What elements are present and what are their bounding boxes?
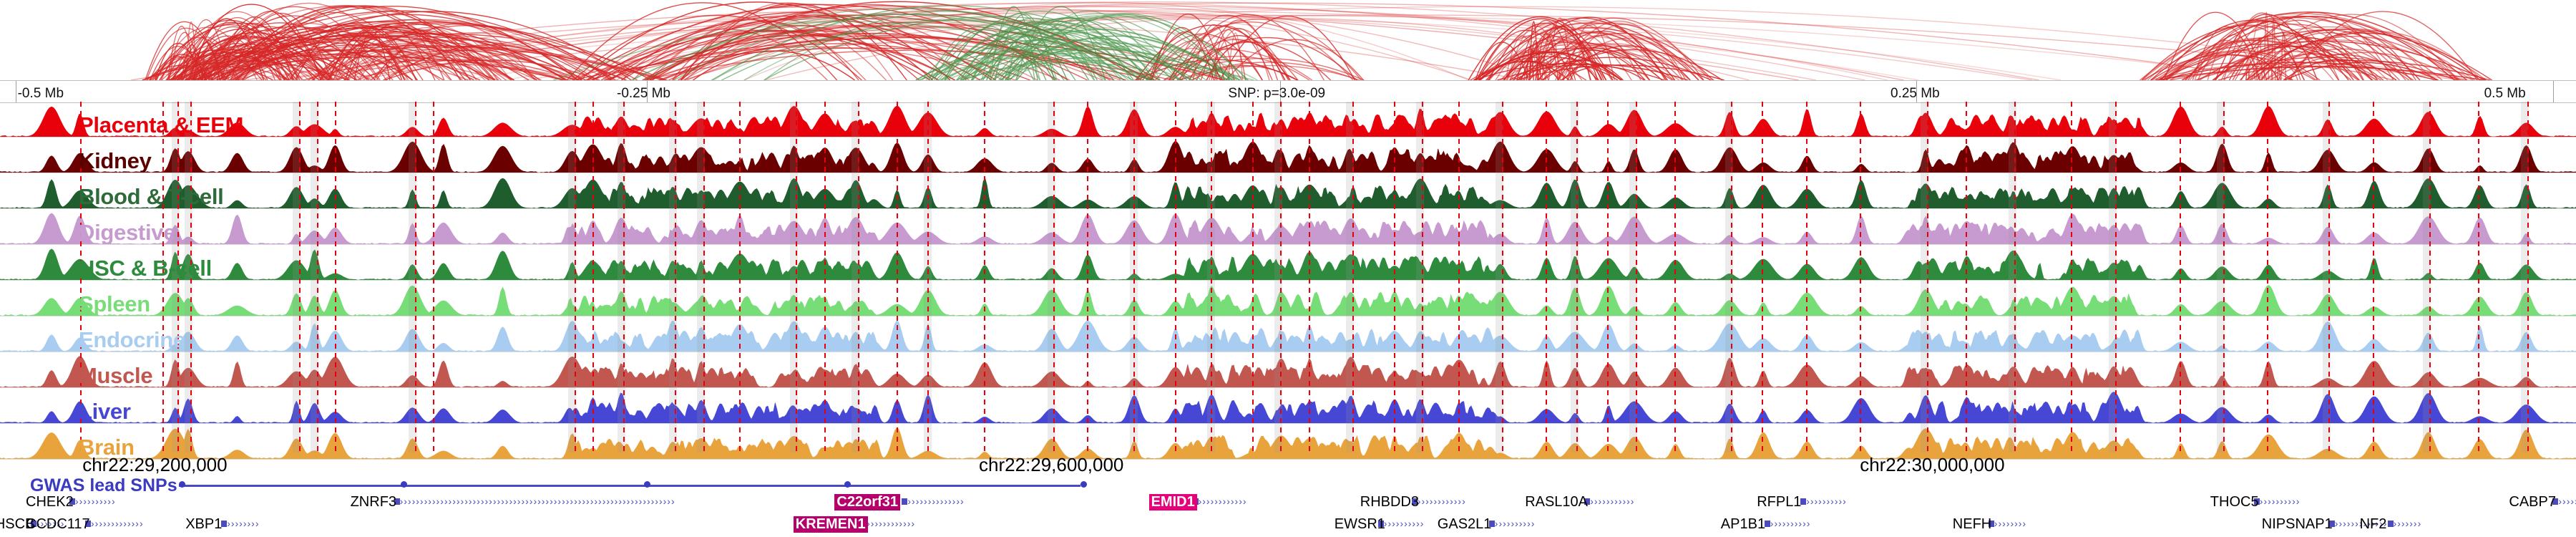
gene-strand-arrows: ›››››››››› [75,495,137,507]
gene-label[interactable]: RASL10A [1525,494,1588,511]
gene-label[interactable]: GAS2L1 [1438,516,1492,533]
gwas-snp-marker[interactable] [644,481,650,488]
signal-track: Endocrine [0,316,2576,352]
gene-label[interactable]: C22orf31 [834,494,900,511]
gene-row: ›››››››HSCB›››››››››››››CCDC117››››››››X… [0,515,2576,537]
track-signal-profile [0,281,2576,316]
track-signal-profile [0,137,2576,173]
track-signal-profile [0,245,2576,280]
gene-strand-arrows: ››››››››› [2558,495,2576,507]
gene-label[interactable]: THOC5 [2210,494,2259,511]
gene-strand-arrows: ››››››› [2394,518,2440,529]
gene-body[interactable] [221,521,227,527]
gene-annotation-track: ››››››››››CHEK2›››››››››››››››››››››››››… [0,493,2576,537]
track-label-kidney: Kidney [79,148,152,173]
interaction-arcs-panel [0,0,2576,80]
genome-browser-view: -0.5 Mb-0.25 MbSNP: p=3.0e-090.25 Mb0.5 … [0,0,2576,537]
ruler-tick-label: 0.5 Mb [2484,86,2526,102]
gene-label[interactable]: CCDC117 [26,516,90,533]
gene-label[interactable]: NEFH [1953,516,1991,533]
signal-track: Placenta & EEM [0,102,2576,137]
signal-track: Muscle [0,352,2576,388]
genomic-coordinate-label: chr22:30,000,000 [1860,454,2004,476]
red-arc-group [131,1,2492,80]
gene-body[interactable] [902,498,907,505]
gene-strand-arrows: ›››››››››› [2260,495,2327,507]
ruler-tick-label: -0.5 Mb [18,86,64,102]
gene-label[interactable]: CHEK2 [26,494,74,511]
gene-label[interactable]: NF2 [2360,516,2387,533]
track-label-endocrine: Endocrine [79,327,185,352]
gene-label[interactable]: RHBDD3 [1360,494,1419,511]
gene-strand-arrows: ››››››››››› [1590,495,1662,507]
gene-label[interactable]: KREMEN1 [794,516,868,533]
signal-track: Kidney [0,137,2576,173]
gene-label[interactable]: ZNRF3 [351,494,396,511]
track-signal-profile [0,102,2576,137]
gene-label[interactable]: AP1B1 [1721,516,1765,533]
track-label-digestive: Digestive [79,220,175,245]
signal-tracks: Placenta & EEMKidneyBlood & T-cellDigest… [0,102,2576,453]
gene-body[interactable] [2388,521,2394,527]
track-label-liver: Liver [79,399,131,424]
signal-track: HSC & B-cell [0,245,2576,281]
gwas-lead-snps-track: GWAS lead SNPs [0,475,2576,494]
signal-track: Spleen [0,281,2576,316]
ruler-tick-label: 0.25 Mb [1890,86,1940,102]
ruler-tick-label: SNP: p=3.0e-09 [1228,86,1325,102]
signal-track: Digestive [0,209,2576,245]
track-signal-profile [0,388,2576,423]
coordinate-ruler: -0.5 Mb-0.25 MbSNP: p=3.0e-090.25 Mb0.5 … [0,80,2576,103]
interaction-arc [1220,16,1355,80]
gene-label[interactable]: EMID1 [1149,494,1197,511]
gene-strand-arrows: ›››››››››› [1384,518,1445,529]
gene-strand-arrows: ›››››››››› [1770,518,1832,529]
track-signal-profile [0,209,2576,244]
gene-strand-arrows: ›››››››› [227,518,278,529]
track-label-blood-t-cell: Blood & T-cell [79,184,223,209]
signal-track: Liver [0,388,2576,424]
gene-label[interactable]: RFPL1 [1757,494,1801,511]
gene-strand-arrows: ›››››››› [1994,518,2046,529]
gene-strand-arrows: ››››››››››››› [91,518,173,529]
gwas-span-line [179,485,1080,487]
ruler-tick-label: -0.25 Mb [617,86,670,102]
gene-strand-arrows: ›››››››››››› [1199,495,1276,507]
track-label-brain: Brain [79,435,135,460]
genomic-coordinate-label: chr22:29,600,000 [979,454,1123,476]
track-signal-profile [0,173,2576,208]
signal-track: Blood & T-cell [0,173,2576,209]
track-signal-profile [0,316,2576,352]
gene-strand-arrows: ››››››››››››››››››››››››››››››››››››››››… [400,495,838,507]
gene-strand-arrows: ›››››››››››› [1418,495,1495,507]
track-signal-profile [0,352,2576,387]
gene-row: ››››››››››CHEK2›››››››››››››››››››››››››… [0,493,2576,515]
ruler-tick [2553,81,2554,102]
gwas-snp-marker[interactable] [844,481,851,488]
arcs-svg [0,0,2576,80]
gwas-snp-marker[interactable] [401,481,407,488]
gene-label[interactable]: CABP7 [2509,494,2556,511]
gene-strand-arrows: ›››››››››› [1495,518,1562,529]
ruler-tick [16,81,16,102]
gene-strand-arrows: ›››››››››› [1806,495,1868,507]
gwas-snp-marker[interactable] [1080,481,1087,488]
gwas-snp-marker[interactable] [179,481,185,488]
gene-strand-arrows: ›››››››››››››› [859,518,952,529]
genomic-coordinate-labels: chr22:29,200,000chr22:29,600,000chr22:30… [0,453,2576,477]
gene-label[interactable]: XBP1 [185,516,222,533]
track-label-placenta-eem: Placenta & EEM [79,112,243,137]
gene-label[interactable]: EWSR1 [1335,516,1385,533]
gene-strand-arrows: ›››››››››››››› [907,495,995,507]
gene-label[interactable]: NIPSNAP1 [2262,516,2333,533]
track-label-spleen: Spleen [79,291,150,316]
track-label-muscle: Muscle [79,363,152,388]
track-label-hsc-b-cell: HSC & B-cell [79,256,212,281]
